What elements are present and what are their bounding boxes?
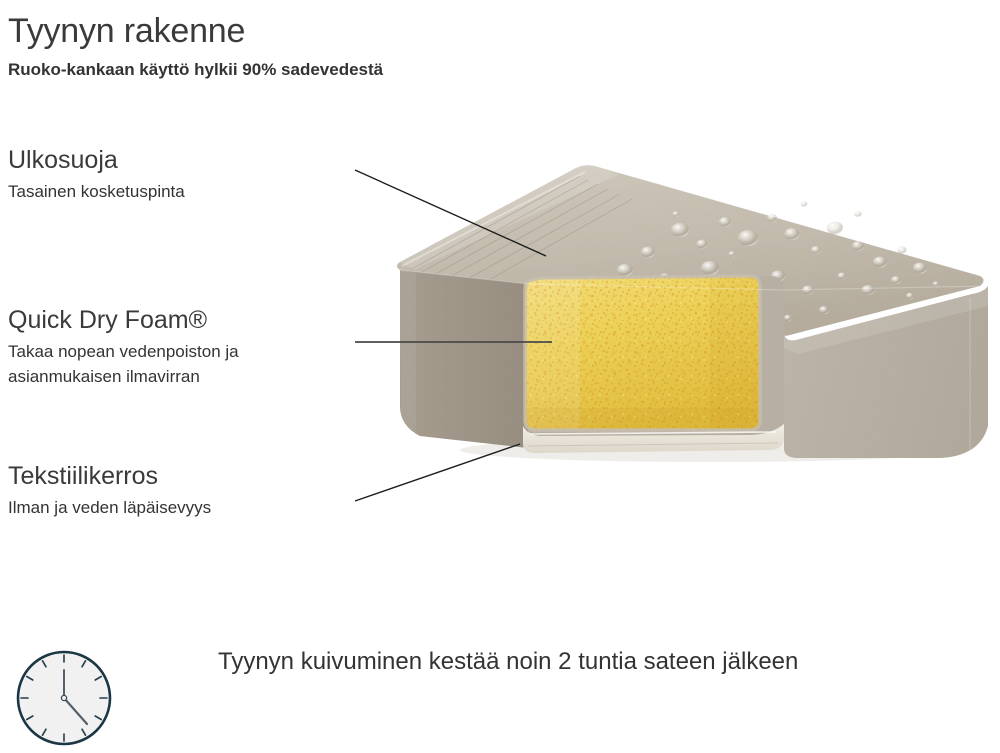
annotation-title: Quick Dry Foam® [8,306,338,334]
annotation-block-quick-dry-foam: Quick Dry Foam® Takaa nopean vedenpoisto… [8,306,338,389]
quick-dry-foam-core [520,270,770,440]
clock-center-pin [61,695,66,700]
cushion-cutaway-illustration [380,158,1000,478]
annotation-title: Tekstiilikerros [8,462,211,490]
annotation-block-tekstiilikerros: Tekstiilikerros Ilman ja veden läpäisevy… [8,462,211,521]
page-title: Tyynyn rakenne [8,12,245,51]
annotation-title: Ulkosuoja [8,146,185,174]
annotation-description: Takaa nopean vedenpoiston ja asianmukais… [8,340,338,389]
outer-fabric-left-face [400,270,528,448]
annotation-description: Tasainen kosketuspinta [8,180,185,205]
page-subtitle: Ruoko-kankaan käyttö hylkii 90% sadevede… [8,60,383,80]
annotation-description: Ilman ja veden läpäisevyys [8,496,211,521]
clock-icon [14,648,114,748]
drying-time-note: Tyynyn kuivuminen kestää noin 2 tuntia s… [218,643,918,680]
annotation-block-ulkosuoja: Ulkosuoja Tasainen kosketuspinta [8,146,185,205]
